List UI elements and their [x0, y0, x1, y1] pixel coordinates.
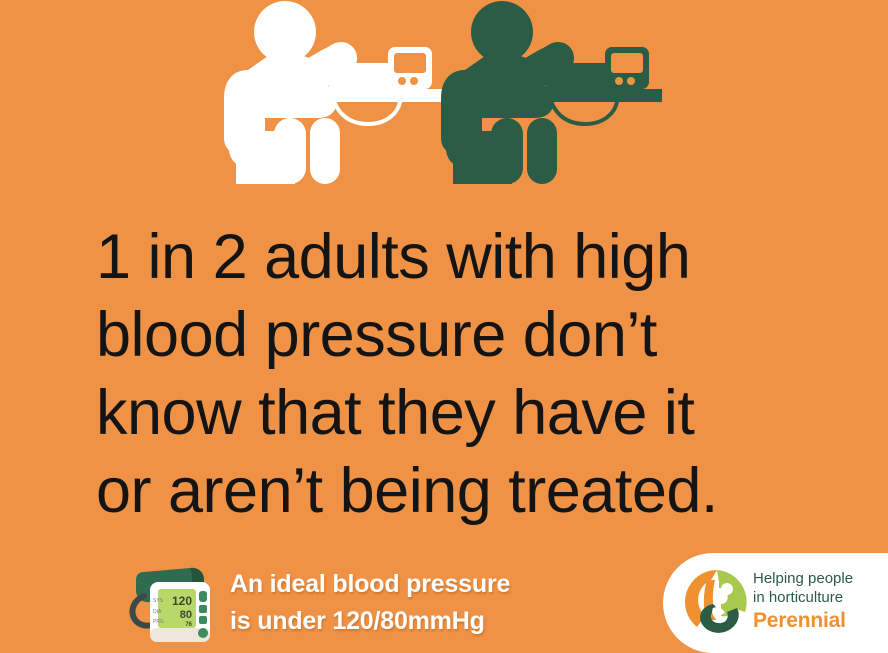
tagline: An ideal blood pressure is under 120/80m…	[230, 566, 550, 640]
monitor-button-3	[199, 616, 207, 624]
figure-right	[441, 1, 662, 184]
monitor-button-1	[199, 591, 207, 602]
figure-left-leg-back	[310, 118, 340, 184]
figure-left-monitor-device	[388, 47, 432, 89]
monitor-systolic: 120	[172, 594, 192, 608]
monitor-label-sys: SYS	[153, 598, 164, 604]
figure-left-head	[254, 1, 316, 63]
figure-right-head	[471, 1, 533, 63]
figure-right-table-top	[534, 89, 662, 102]
monitor-diastolic: 80	[180, 609, 192, 621]
figure-left-table-top	[317, 89, 445, 102]
monitor-power-button	[198, 628, 208, 638]
tagline-line-2: is under 120/80mmHg	[230, 603, 550, 640]
illustration-two-people-blood-pressure	[0, 0, 888, 196]
figure-left	[224, 1, 445, 184]
monitor-button-2	[199, 605, 207, 613]
logo-tagline-line-1: Helping people	[753, 569, 883, 588]
figure-left-seat	[236, 131, 295, 184]
figure-right-seat	[453, 131, 512, 184]
headline-line-3: know that they have it	[96, 374, 816, 452]
monitor-label-prg: PRG	[153, 619, 164, 625]
tagline-line-1: An ideal blood pressure	[230, 566, 550, 603]
logo-panel: Helping people in horticulture Perennial	[663, 553, 888, 653]
infographic-poster: 1 in 2 adults with high blood pressure d…	[0, 0, 888, 653]
figure-right-monitor-device	[605, 47, 649, 89]
logo-brand-name: Perennial	[753, 608, 883, 633]
monitor-label-dia: DIA	[153, 609, 162, 615]
headline-line-4: or aren’t being treated.	[96, 452, 816, 530]
perennial-logo-mark-icon	[683, 568, 751, 636]
perennial-logo-text: Helping people in horticulture Perennial	[753, 569, 883, 633]
blood-pressure-monitor-icon: 120 80 76 SYS DIA PRG	[128, 562, 224, 646]
logo-tagline-line-2: in horticulture	[753, 588, 883, 607]
logo-head-dot	[721, 583, 733, 595]
figure-right-leg-back	[527, 118, 557, 184]
headline-line-2: blood pressure don’t	[96, 296, 816, 374]
headline-line-1: 1 in 2 adults with high	[96, 218, 816, 296]
headline: 1 in 2 adults with high blood pressure d…	[96, 218, 816, 530]
monitor-pulse: 76	[185, 622, 192, 628]
